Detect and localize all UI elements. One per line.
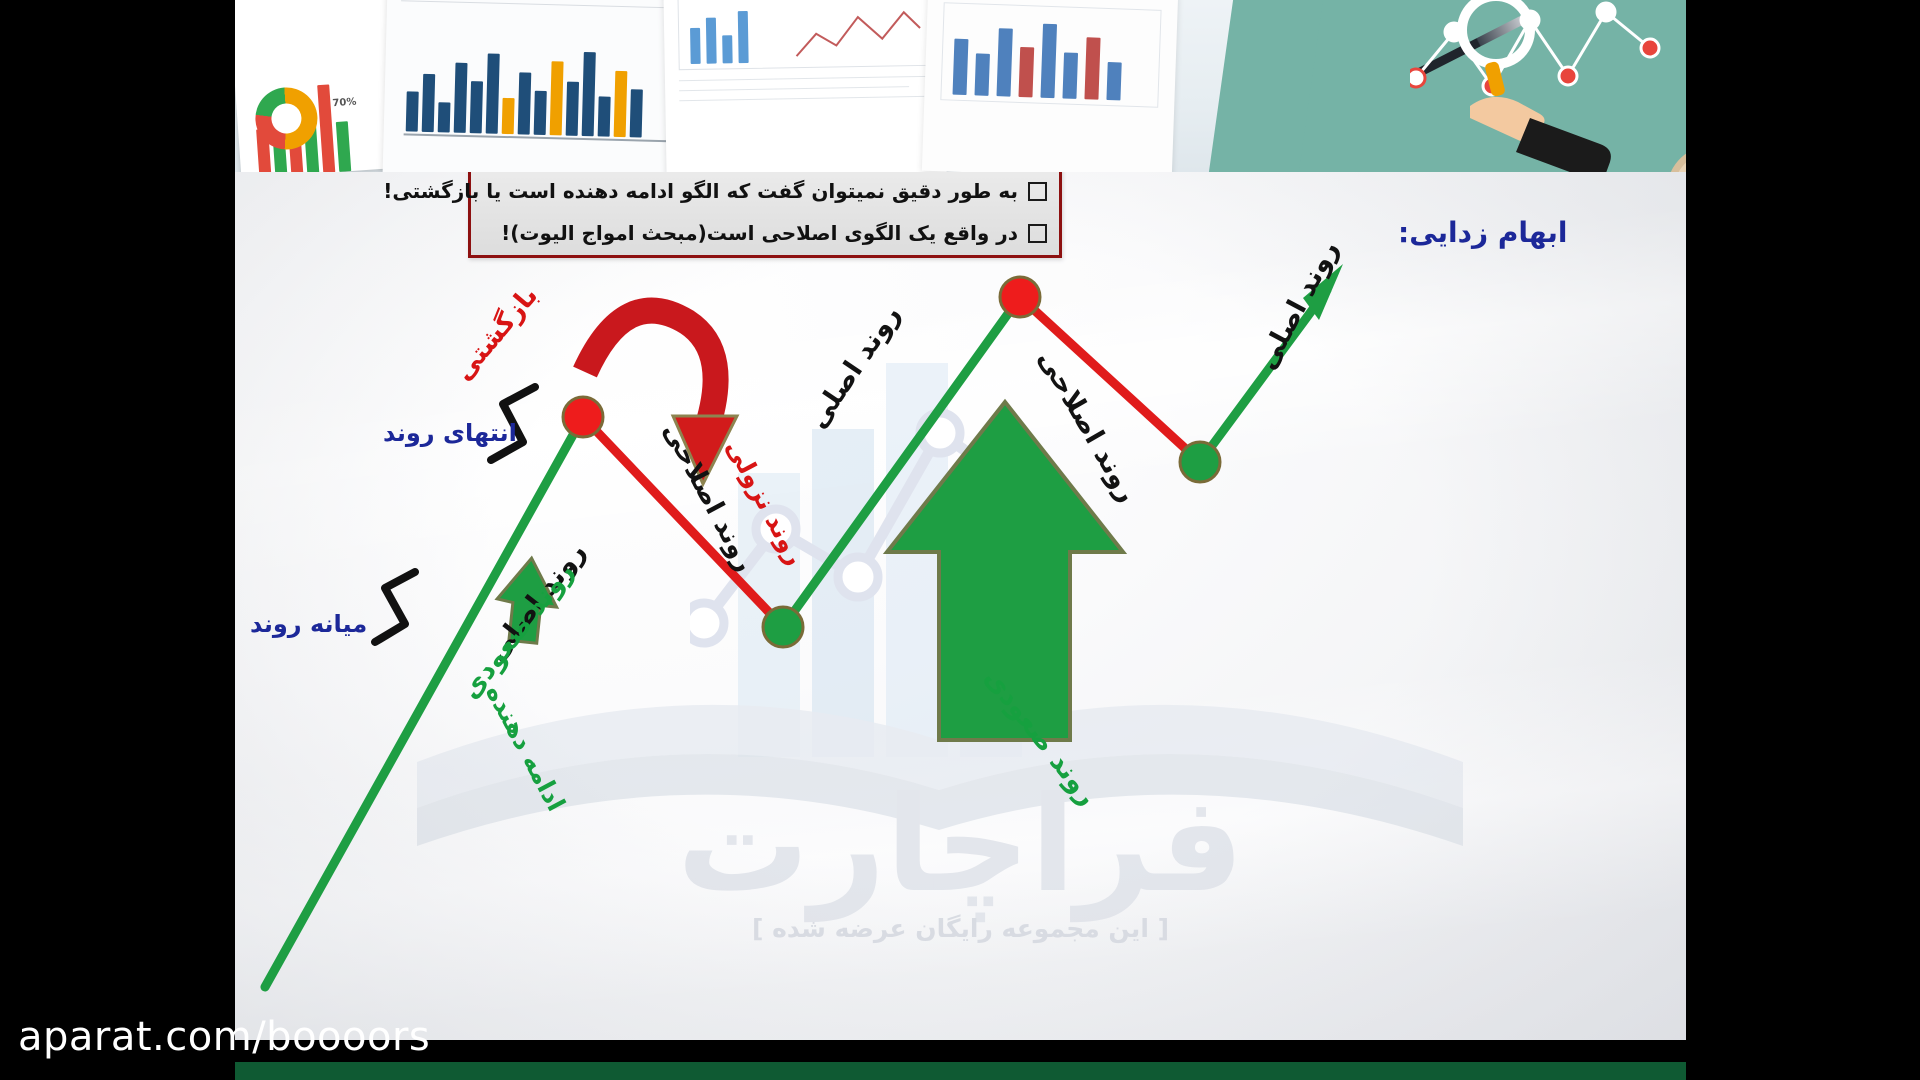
section-title: ابهام زدایی:: [1398, 216, 1568, 249]
callout-bullet-text: به طور دقیق نمیتوان گفت که الگو ادامه ده…: [383, 179, 1018, 203]
callout-bullet-row: به طور دقیق نمیتوان گفت که الگو ادامه ده…: [479, 172, 1047, 212]
header-photo-banner: 70%: [235, 0, 1686, 172]
diagram-label-trend-middle: میانه روند: [250, 610, 367, 638]
sparkline-icon: [794, 2, 925, 66]
report-sheet-4: [922, 0, 1178, 172]
empty-checkbox-icon[interactable]: [1028, 182, 1047, 201]
empty-checkbox-icon[interactable]: [1028, 224, 1047, 243]
callout-bullet-row: در واقع یک الگوی اصلاحی است(مبحث امواج ا…: [479, 212, 1047, 254]
slide-canvas: فراچارت [ این مجموعه رایگان عرضه شده ]: [235, 172, 1686, 1040]
magnifier-and-chart-graphic: [1410, 0, 1686, 172]
trend-middle-bracket: [375, 572, 415, 642]
reversal-curved-arrow: [585, 311, 737, 484]
footer-green-stripe: [235, 1062, 1686, 1080]
trend-diagram: [235, 172, 1686, 1040]
aparat-url-text: aparat.com/boooors: [18, 1014, 430, 1060]
swing-low-marker-1: [763, 607, 803, 647]
magnifier-icon: [1462, 0, 1530, 97]
callout-bullet-text: در واقع یک الگوی اصلاحی است(مبحث امواج ا…: [501, 221, 1018, 245]
swing-high-marker-1: [563, 397, 603, 437]
impulse-leg-1: [265, 417, 583, 987]
callout-box: به طور دقیق نمیتوان گفت که الگو ادامه ده…: [468, 172, 1062, 258]
diagram-label-trend-end: انتهای روند: [383, 419, 517, 447]
report-sheet-3: [663, 0, 946, 172]
screenshot-root: 70%: [0, 0, 1920, 1080]
swing-high-marker-2: [1000, 277, 1040, 317]
report-sheet-2: [383, 0, 708, 172]
swing-low-marker-2: [1180, 442, 1220, 482]
